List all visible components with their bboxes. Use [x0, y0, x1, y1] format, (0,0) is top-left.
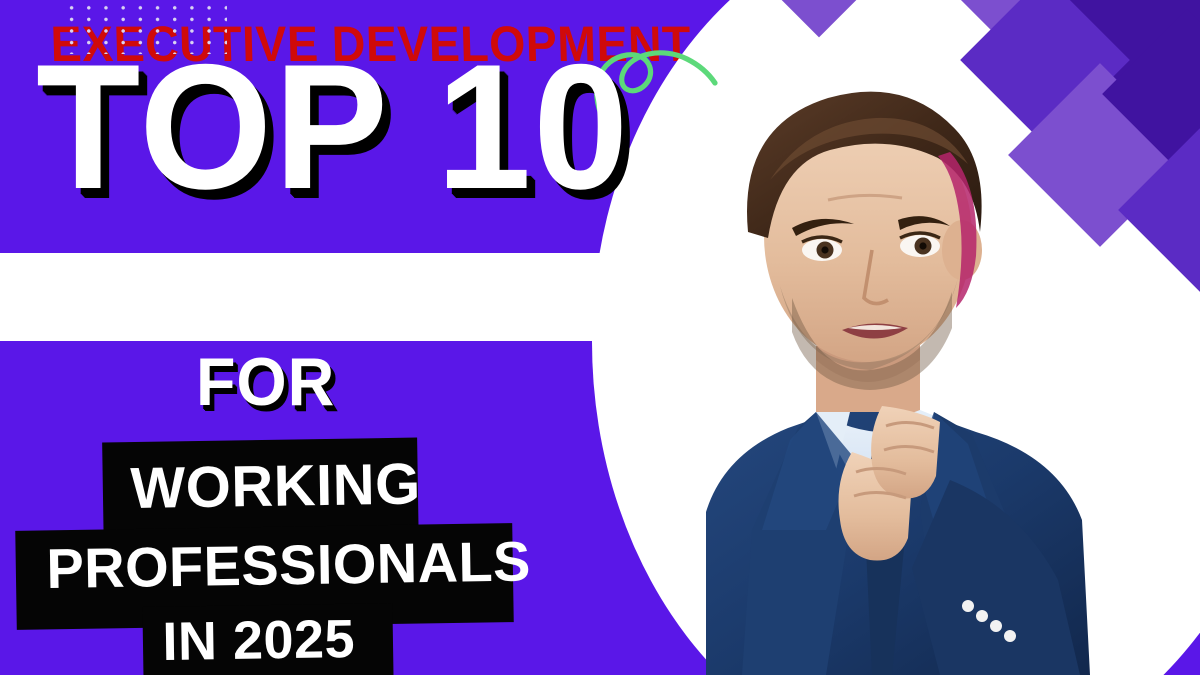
audience-label-working: WORKING	[130, 455, 421, 518]
audience-label-professionals: PROFESSIONALS	[46, 533, 531, 597]
connector-word: FOR	[196, 348, 335, 416]
poster-canvas: TOP 10 EXECUTIVE DEVELOPMENT PROGRAMS FO…	[0, 0, 1200, 675]
subtitle-banner	[0, 253, 712, 341]
audience-label-year: IN 2025	[162, 612, 355, 669]
businessman-portrait	[620, 60, 1200, 675]
page-title: TOP 10	[36, 38, 630, 216]
